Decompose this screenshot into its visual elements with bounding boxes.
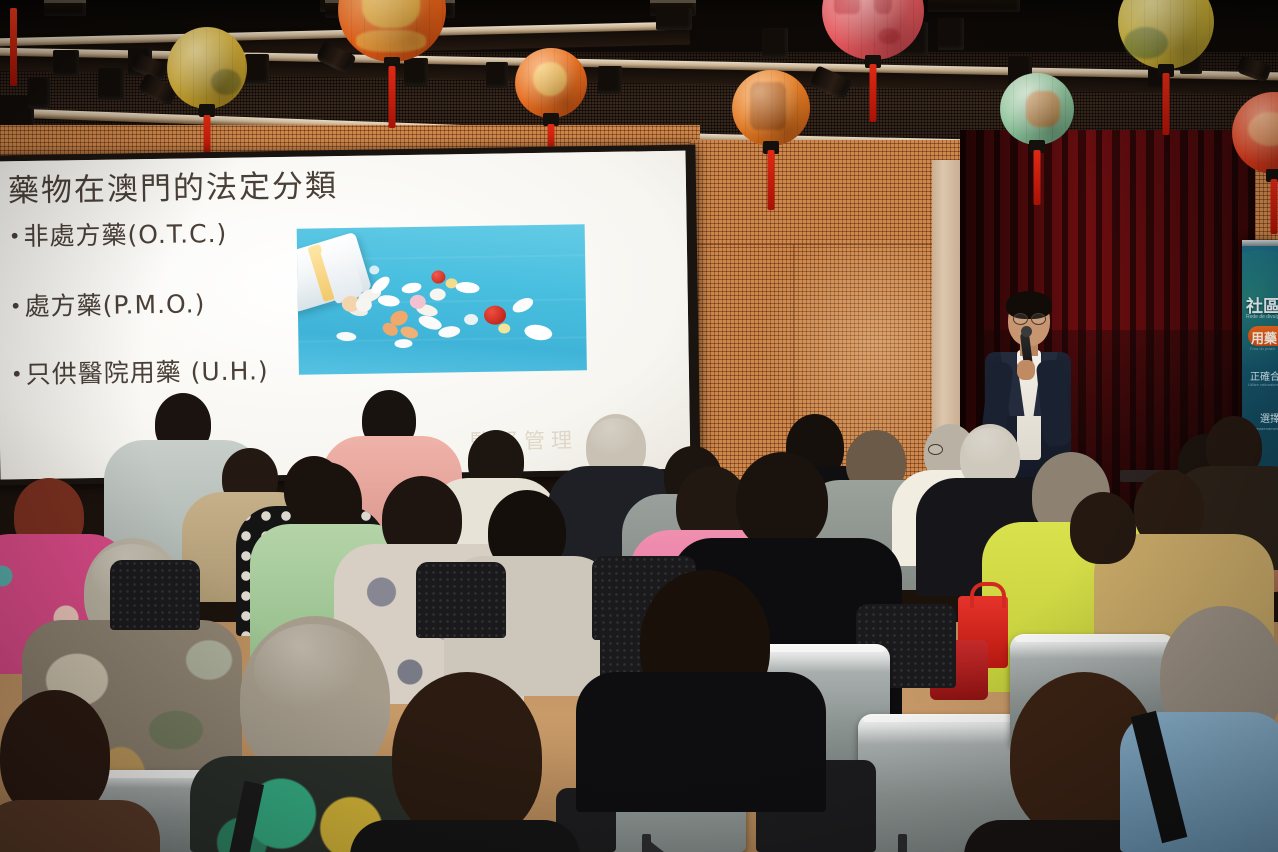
pill <box>394 339 412 348</box>
ceiling-speaker-10 <box>486 62 508 88</box>
banner-line-2: 選擇 <box>1260 410 1278 425</box>
ceiling-speaker-4 <box>53 50 79 76</box>
pill <box>401 281 423 295</box>
ceiling-spotlight-9 <box>928 0 1020 12</box>
ceiling-speaker-7 <box>245 54 269 84</box>
audience-body <box>0 800 160 852</box>
slide-bullet-1: •非處方藥(O.T.C.) <box>8 214 227 253</box>
slide-bullet-3: •只供醫院用藥 (U.H.) <box>11 351 269 391</box>
ceiling-speaker-12 <box>656 8 692 30</box>
banner-rod <box>1242 240 1278 246</box>
ceiling-speaker-2 <box>28 78 50 108</box>
banner-line-1: 正確合理 <box>1250 368 1278 383</box>
audience-hair-highlight <box>590 418 640 458</box>
projection-screen: 藥物在澳門的法定分類 •非處方藥(O.T.C.) •處方藥(P.M.O.) •只… <box>0 151 690 480</box>
pill <box>510 295 535 315</box>
presenter-hair <box>1006 291 1052 319</box>
pill <box>464 314 478 325</box>
ceiling-speaker-3 <box>98 68 124 100</box>
audience-body <box>576 672 826 812</box>
lantern-gold-left <box>167 27 247 109</box>
bullet-text: 處方藥(P.M.O.) <box>24 289 205 321</box>
presenter-microphone-head <box>1021 326 1032 337</box>
lantern-orange-mid <box>515 48 587 118</box>
presenter-glasses-left <box>1013 313 1028 325</box>
audience-glasses <box>928 444 943 455</box>
lantern-green <box>1000 73 1074 145</box>
pill <box>377 294 400 308</box>
pill <box>455 281 480 294</box>
chair-back-mesh <box>416 562 506 638</box>
bullet-marker: • <box>11 362 24 386</box>
lantern-tassel-far-left <box>10 8 17 86</box>
ceiling-spotlight-1 <box>44 0 86 16</box>
banner-line-1-sub: Utilize rationalmente <box>1248 382 1278 387</box>
slide-pill-photo <box>297 224 587 375</box>
presenter-hand <box>1017 360 1035 380</box>
lantern-orange-script <box>732 70 810 146</box>
pill-red <box>484 305 506 324</box>
presenter-glasses-right <box>1031 313 1046 325</box>
slide-bullet-2: •處方藥(P.M.O.) <box>10 284 206 323</box>
banner-pill-subtitle: Fora do prazo <box>1250 346 1275 351</box>
audience-hair-highlight <box>254 624 372 716</box>
ceiling-speaker-9 <box>404 58 428 86</box>
audience-head <box>736 452 828 550</box>
pill <box>369 265 379 274</box>
pill <box>356 298 372 312</box>
audience-head <box>1070 492 1136 564</box>
slide-title: 藥物在澳門的法定分類 <box>8 160 339 210</box>
pill <box>498 323 510 333</box>
audience-head <box>392 672 542 842</box>
chair-back-mesh <box>110 560 200 630</box>
pill-red <box>431 270 445 283</box>
bullet-text: 非處方藥(O.T.C.) <box>23 219 227 251</box>
bullet-text: 只供醫院用藥 (U.H.) <box>25 356 268 389</box>
pill <box>523 323 553 342</box>
ceiling-speaker-11 <box>598 66 622 94</box>
banner-subtitle: Rede de divulgação <box>1246 314 1278 320</box>
lecture-hall-photo: 藥物在澳門的法定分類 •非處方藥(O.T.C.) •處方藥(P.M.O.) •只… <box>0 0 1278 852</box>
bullet-marker: • <box>10 294 23 318</box>
ceiling-speaker-15 <box>938 18 964 50</box>
red-tote-bag-handle <box>970 582 1006 608</box>
banner-pill-label: 用藥 <box>1251 328 1277 347</box>
audience-hair-highlight <box>964 428 1014 468</box>
ceiling-speaker-13 <box>762 28 788 58</box>
bullet-marker: • <box>9 224 22 248</box>
audience-body <box>350 820 580 852</box>
pill <box>430 288 446 300</box>
